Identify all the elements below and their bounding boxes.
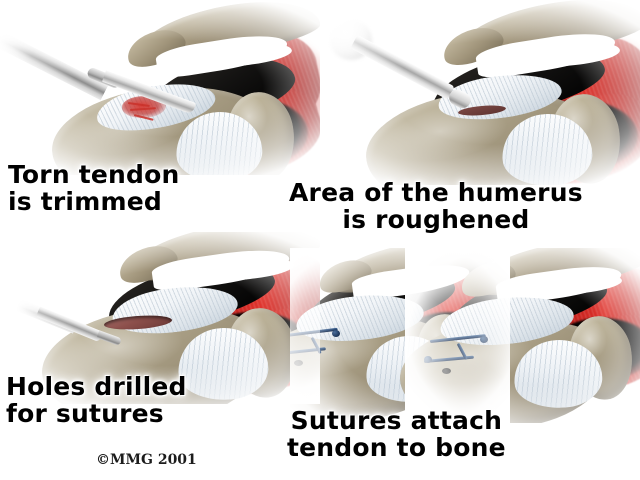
panel-torn-tendon-trimmed — [0, 0, 320, 175]
scalpel-handle — [0, 29, 108, 100]
illustration-canvas: Torn tendon is trimmed Area of the humer… — [0, 0, 640, 480]
suture-bone-hole — [294, 360, 303, 366]
panel-sutures-attach — [290, 248, 640, 423]
shoulder-anatomy-diagram-right-view — [426, 248, 640, 423]
suture-knot — [424, 356, 432, 363]
suture-knot — [332, 330, 340, 337]
caption-sutures-attach: Sutures attach tendon to bone — [287, 408, 506, 461]
caption-humerus-roughened: Area of the humerus is roughened — [289, 180, 583, 233]
caption-holes-drilled: Holes drilled for sutures — [6, 374, 187, 427]
suture-bone-hole — [442, 368, 451, 374]
shoulder-anatomy-diagram — [320, 0, 640, 185]
caption-torn-tendon-trimmed: Torn tendon is trimmed — [8, 162, 180, 215]
copyright-notice: ©MMG 2001 — [96, 452, 197, 468]
panel-humerus-roughened — [320, 0, 640, 185]
shoulder-anatomy-diagram — [0, 0, 320, 175]
suture-knot — [480, 336, 488, 343]
burr-shaft — [350, 35, 454, 100]
